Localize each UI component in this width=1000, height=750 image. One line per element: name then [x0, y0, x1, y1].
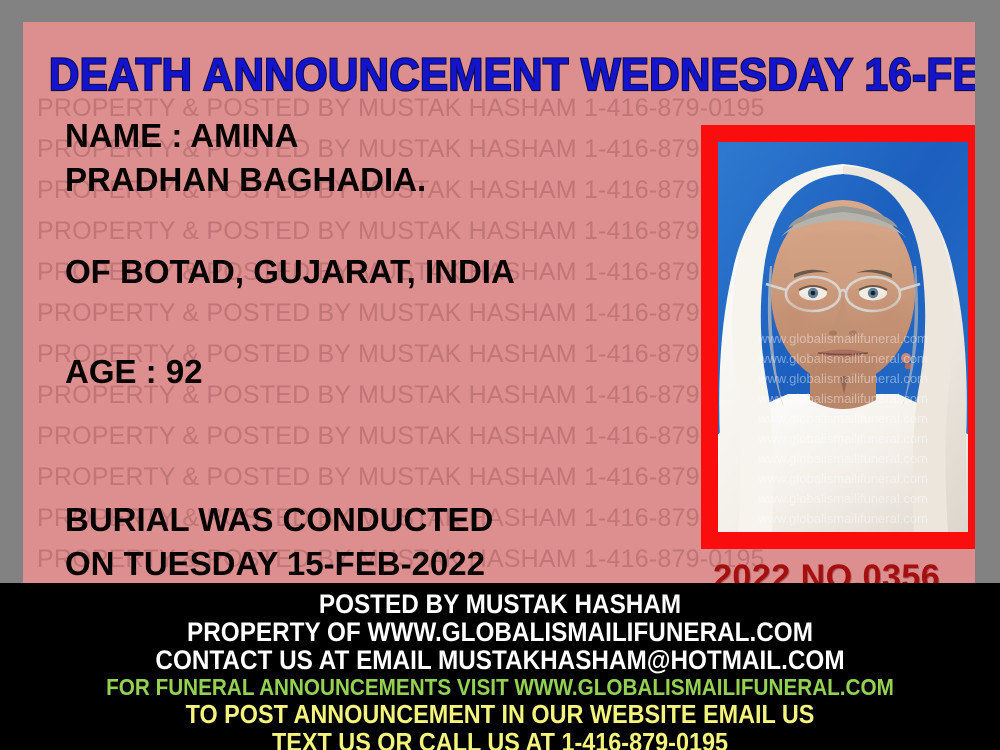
detail-age: AGE : 92 [65, 350, 685, 394]
footer-line-post-announcement: TO POST ANNOUNCEMENT IN OUR WEBSITE EMAI… [50, 700, 950, 728]
footer-contact-block: POSTED BY MUSTAK HASHAM PROPERTY OF WWW.… [0, 583, 1000, 750]
detail-origin: OF BOTAD, GUJARAT, INDIA [65, 250, 685, 294]
detail-name-line2: PRADHAN BAGHADIA. [65, 158, 685, 202]
spacer-1 [65, 202, 685, 250]
footer-line-phone: TEXT US OR CALL US AT 1-416-879-0195 [50, 728, 950, 750]
portrait-illustration [718, 142, 968, 532]
death-announcement-poster: PROPERTY & POSTED BY MUSTAK HASHAM 1-416… [0, 0, 1000, 750]
portrait-photo-frame: www.globalismailifuneral.comwww.globalis… [701, 125, 975, 549]
footer-line-website[interactable]: FOR FUNERAL ANNOUNCEMENTS VISIT WWW.GLOB… [50, 674, 950, 700]
page-title: DEATH ANNOUNCEMENT WEDNESDAY 16-FEB-2022 [49, 49, 886, 101]
spacer-4 [65, 450, 685, 498]
footer-line-property: PROPERTY OF WWW.GLOBALISMAILIFUNERAL.COM [50, 618, 950, 646]
footer-line-posted-by: POSTED BY MUSTAK HASHAM [50, 583, 950, 618]
spacer-3 [65, 394, 685, 450]
spacer-2 [65, 294, 685, 350]
footer-line-contact-email: CONTACT US AT EMAIL MUSTAKHASHAM@HOTMAIL… [50, 646, 950, 674]
detail-burial-line1: BURIAL WAS CONDUCTED [65, 498, 685, 542]
deceased-details: NAME : AMINA PRADHAN BAGHADIA. OF BOTAD,… [65, 114, 685, 583]
portrait-photo: www.globalismailifuneral.comwww.globalis… [718, 142, 968, 532]
detail-name-line1: NAME : AMINA [65, 114, 685, 158]
detail-burial-line2: ON TUESDAY 15-FEB-2022 [65, 542, 685, 583]
reference-number: 2022 NO.0356 [713, 558, 940, 583]
announcement-card: PROPERTY & POSTED BY MUSTAK HASHAM 1-416… [23, 22, 975, 583]
